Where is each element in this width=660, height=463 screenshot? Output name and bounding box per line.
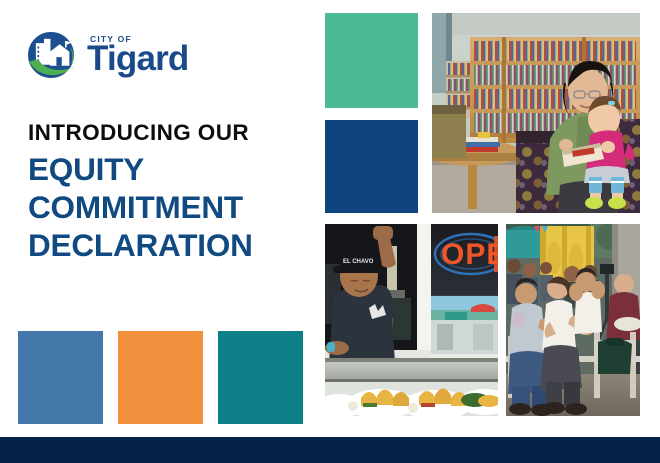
headline-eyebrow: INTRODUCING OUR xyxy=(28,120,318,146)
poster-canvas: CITY OF Tigard INTRODUCING OUR EQUITY CO… xyxy=(0,0,660,463)
svg-text:OPE: OPE xyxy=(441,238,498,271)
swatch-steel-blue xyxy=(18,331,103,424)
photo-outdoor-event-audience xyxy=(506,224,640,416)
photo-food-truck-graphic: OPE EL CHAVO xyxy=(325,224,498,416)
photo-library-reading xyxy=(432,13,640,213)
tigard-city-seal-icon xyxy=(24,28,78,82)
swatch-green xyxy=(325,13,418,108)
logo-name-label: Tigard xyxy=(87,42,189,75)
page-title-line-1: EQUITY xyxy=(28,150,318,188)
photo-library-reading-graphic xyxy=(432,13,640,213)
photo-audience-graphic xyxy=(506,224,640,416)
page-title: EQUITY COMMITMENT DECLARATION xyxy=(28,150,318,264)
footer-bar xyxy=(0,437,660,463)
brand-color-swatch-row xyxy=(18,331,303,424)
page-title-line-2: COMMITMENT xyxy=(28,188,318,226)
swatch-navy-blue xyxy=(325,120,418,213)
headline-block: INTRODUCING OUR EQUITY COMMITMENT DECLAR… xyxy=(28,120,318,264)
photo-food-truck-vendor: OPE EL CHAVO xyxy=(325,224,498,416)
city-of-tigard-logo[interactable]: CITY OF Tigard xyxy=(24,28,189,82)
swatch-orange xyxy=(118,331,203,424)
svg-text:EL CHAVO: EL CHAVO xyxy=(343,259,374,265)
logo-wordmark: CITY OF Tigard xyxy=(87,35,189,76)
page-title-line-3: DECLARATION xyxy=(28,226,318,264)
swatch-teal xyxy=(218,331,303,424)
